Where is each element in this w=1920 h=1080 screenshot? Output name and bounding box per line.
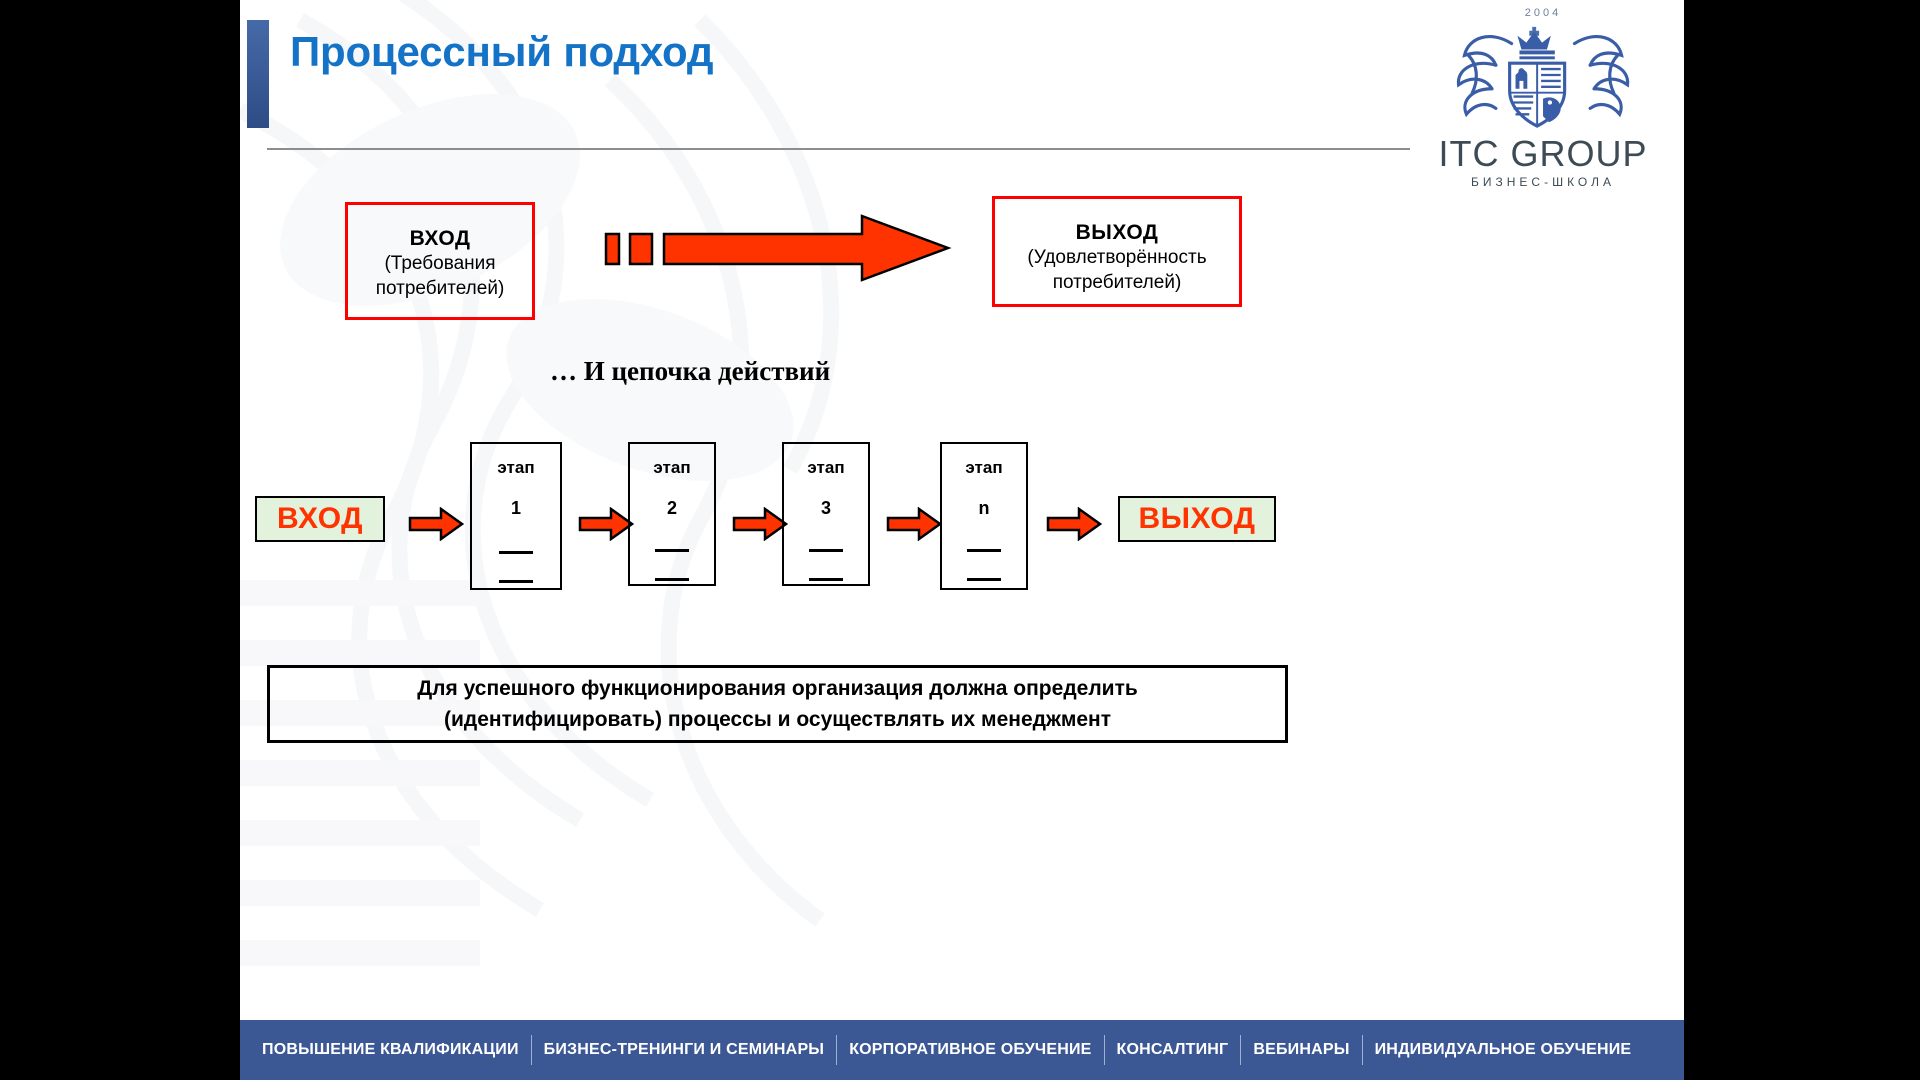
small-right-arrow-icon [886,507,942,541]
footer-item-povyshenie-kvalifikacii[interactable]: ПОВЫШЕНИЕ КВАЛИФИКАЦИИ [250,1041,531,1059]
statement-box: Для успешного функционирования организац… [267,665,1288,743]
footer-item-individualnoe-obuchenie[interactable]: ИНДИВИДУАЛЬНОЕ ОБУЧЕНИЕ [1363,1041,1644,1059]
input-box-title: ВХОД [348,227,532,251]
stage-label: этап [630,458,714,478]
chain-input-box: ВХОД [255,496,385,542]
logo-subtitle: БИЗНЕС-ШКОЛА [1430,173,1656,191]
stage-box: этап 3 [782,442,870,586]
output-box: ВЫХОД (Удовлетворённость потребителей) [992,196,1242,307]
stage-label: этап [942,458,1026,478]
stage-number: 2 [630,498,714,519]
input-box-subtitle-line1: (Требования [348,251,532,276]
output-box-subtitle-line1: (Удовлетворённость [995,245,1239,270]
stage-number: n [942,498,1026,519]
stage-box: этап 2 [628,442,716,586]
footer-nav: ПОВЫШЕНИЕ КВАЛИФИКАЦИИ БИЗНЕС-ТРЕНИНГИ И… [240,1020,1684,1080]
stage-box: этап n [940,442,1028,590]
small-right-arrow-icon [578,507,634,541]
output-box-subtitle-line2: потребителей) [995,270,1239,295]
statement-line-1: Для успешного функционирования организац… [417,677,1138,701]
input-box-subtitle-line2: потребителей) [348,276,532,301]
logo-wordmark: ITC GROUP [1430,135,1656,173]
small-right-arrow-icon [1046,507,1102,541]
heraldic-shield-icon [1435,20,1651,130]
footer-item-korporativnoe-obuchenie[interactable]: КОРПОРАТИВНОЕ ОБУЧЕНИЕ [837,1041,1103,1059]
title-divider [267,148,1410,150]
output-box-title: ВЫХОД [995,221,1239,245]
presentation-slide: Процессный подход 2004 [240,0,1684,1080]
page-title: Процессный подход [290,28,713,76]
right-arrow-icon [604,212,954,284]
stage-label: этап [784,458,868,478]
stage-dash [967,549,1001,552]
title-accent-bar [247,20,269,128]
stage-label: этап [472,458,560,478]
stage-number: 1 [472,498,560,519]
brand-logo: 2004 [1430,6,1656,191]
input-box: ВХОД (Требования потребителей) [345,202,535,320]
stage-box: этап 1 [470,442,562,590]
small-right-arrow-icon [732,507,788,541]
footer-item-konsalting[interactable]: КОНСАЛТИНГ [1105,1041,1241,1059]
statement-line-2: (идентифицировать) процессы и осуществля… [444,708,1111,732]
footer-item-biznes-treningi[interactable]: БИЗНЕС-ТРЕНИНГИ И СЕМИНАРЫ [532,1041,837,1059]
stage-dash [655,549,689,552]
stage-dash [809,549,843,552]
stage-dash [809,578,843,581]
stage-dash [655,578,689,581]
small-right-arrow-icon [408,507,464,541]
stage-number: 3 [784,498,868,519]
footer-item-vebinary[interactable]: ВЕБИНАРЫ [1241,1041,1361,1059]
chain-output-box: ВЫХОД [1118,496,1276,542]
stage-dash [499,551,533,554]
stage-dash [967,578,1001,581]
screenshot-root: Процессный подход 2004 [0,0,1920,1080]
process-chain: ВХОД этап 1 этап 2 [240,430,1684,610]
chain-caption: … И цепочка действий [550,356,830,387]
logo-year: 2004 [1430,6,1656,20]
stage-dash [499,580,533,583]
